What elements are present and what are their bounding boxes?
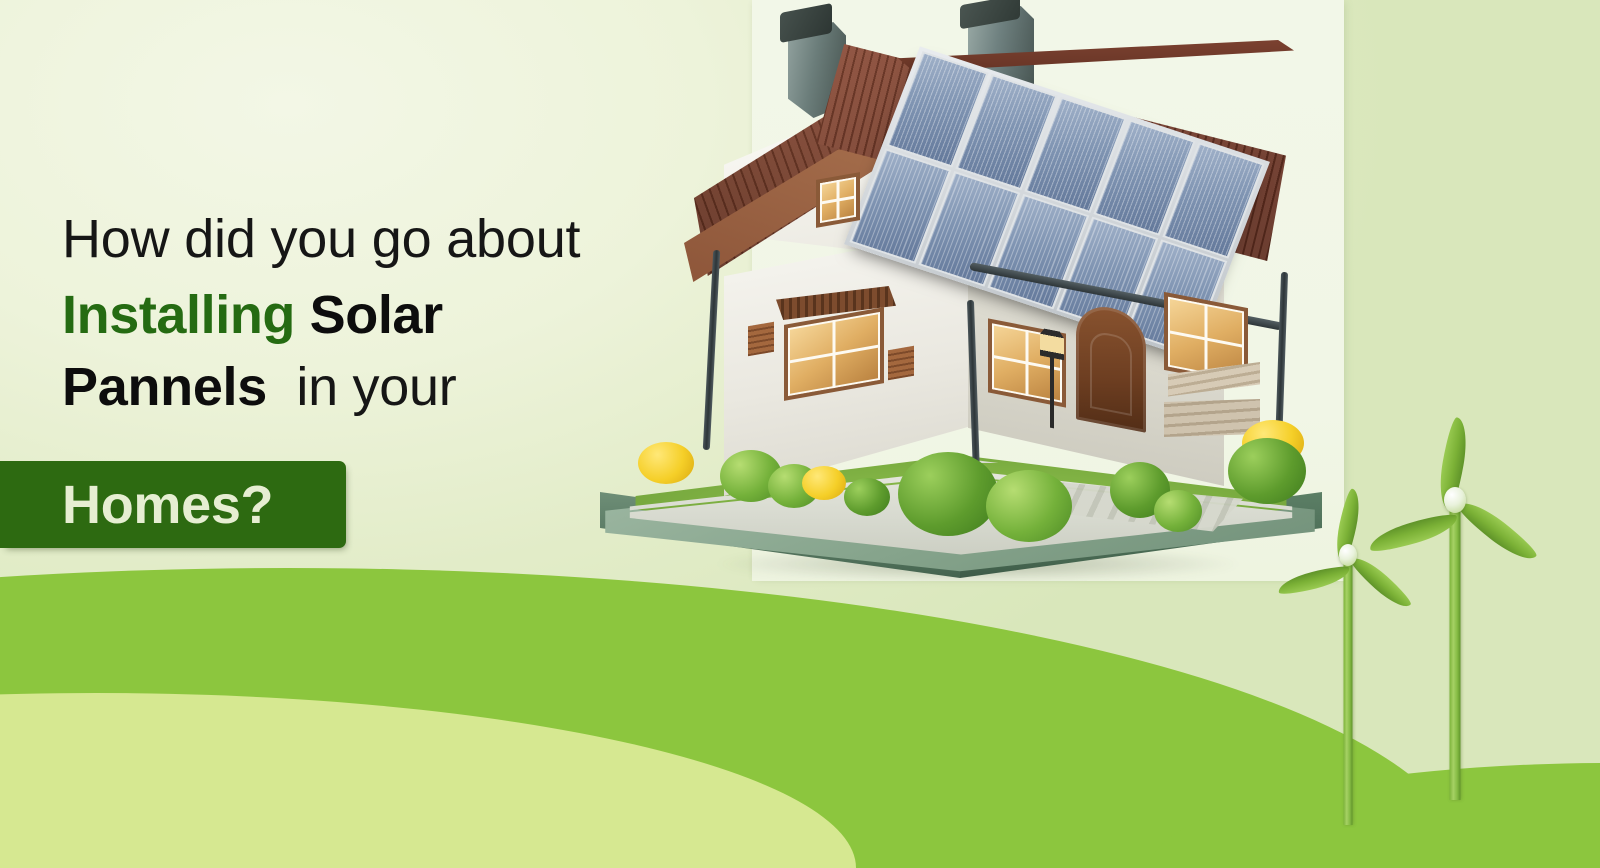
lamp-post	[1050, 352, 1054, 429]
garden-tree	[898, 452, 998, 536]
wind-turbine-large	[1420, 500, 1490, 800]
garden-tree	[986, 470, 1072, 542]
wind-turbine-small	[1318, 555, 1378, 825]
flower-bush-yellow	[638, 442, 694, 484]
shutter-right	[888, 346, 914, 381]
turbine-blade	[1455, 494, 1540, 567]
turbine-blade	[1366, 510, 1460, 556]
turbine-mast	[1450, 500, 1461, 800]
garden-bush	[1154, 490, 1202, 532]
headline-word-pannels: Pannels	[62, 357, 267, 417]
headline-word-installing: Installing	[62, 285, 295, 345]
headline-word-in-your: in your	[296, 357, 456, 417]
turbine-mast	[1344, 555, 1353, 825]
headline-word-solar: Solar	[310, 285, 443, 345]
garden-bush	[1228, 438, 1306, 504]
house-diorama	[598, 0, 1344, 581]
solar-house-image	[598, 0, 1344, 581]
flower-bush-yellow	[802, 466, 846, 500]
headline-block: How did you go about Installing Solar Pa…	[0, 212, 700, 422]
headline-highlight-box: Homes?	[0, 461, 346, 548]
downspout-left	[703, 250, 720, 450]
headline-line-3: Pannels in your	[0, 348, 700, 422]
turbine-hub	[1339, 544, 1357, 566]
headline-line-1: How did you go about	[0, 212, 700, 274]
turbine-blade	[1348, 551, 1414, 613]
headline-word-homes: Homes?	[0, 474, 273, 536]
turbine-hub	[1444, 487, 1466, 513]
headline-line-2: Installing Solar	[0, 274, 700, 348]
shutter-left	[748, 322, 774, 357]
solar-banner: How did you go about Installing Solar Pa…	[0, 0, 1600, 868]
window-gable	[816, 172, 860, 228]
garden-bush	[844, 478, 890, 516]
